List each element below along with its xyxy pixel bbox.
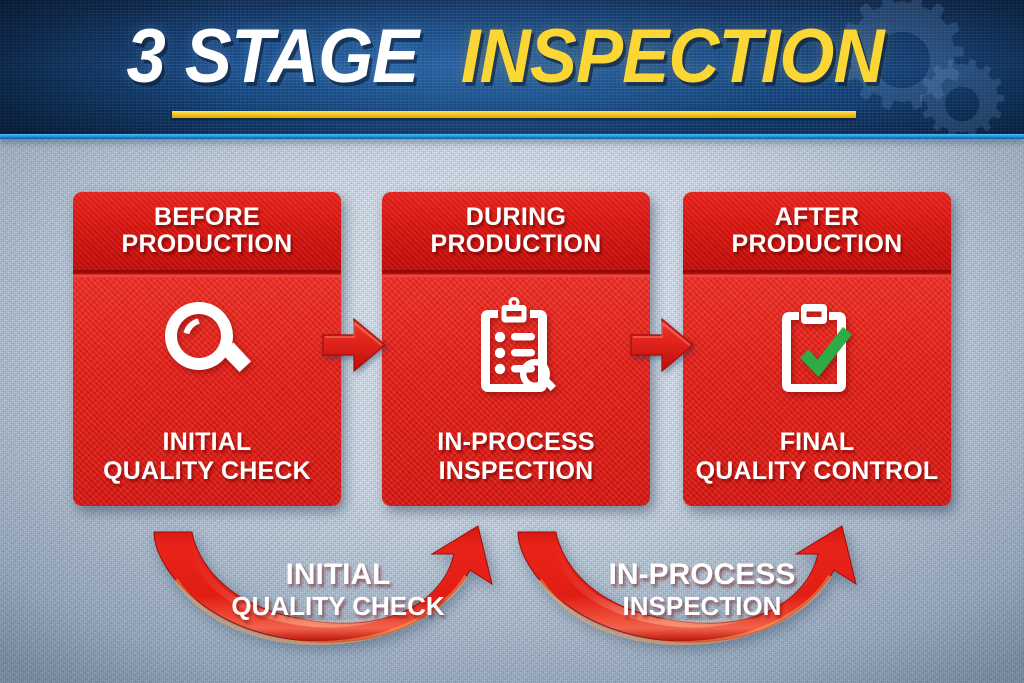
title-word-stage: STAGE (185, 17, 419, 97)
stage-card-header-label: AFTER PRODUCTION (723, 204, 910, 258)
card-divider (382, 270, 650, 278)
stage-card-header-label: BEFORE PRODUCTION (113, 204, 300, 258)
stage-caption-line2: QUALITY CONTROL (696, 457, 939, 485)
stage-card-body: FINAL QUALITY CONTROL (683, 278, 951, 506)
stage-card-before-production[interactable]: BEFORE PRODUCTION INITIAL QUALITY CHECK (73, 192, 341, 506)
stage-caption-line2: INSPECTION (439, 457, 594, 485)
header-bottom-rule (0, 134, 1024, 139)
stage-card-during-production[interactable]: DURING PRODUCTION (382, 192, 650, 506)
title-word-inspection: INSPECTION (461, 17, 884, 97)
clipboard-checklist-magnifier-icon (468, 296, 564, 396)
stage-card-caption: IN-PROCESS INSPECTION (382, 428, 650, 486)
stage-card-caption: INITIAL QUALITY CHECK (73, 428, 341, 486)
page-title: 3STAGEINSPECTION (0, 17, 1024, 97)
stage-card-body: INITIAL QUALITY CHECK (73, 278, 341, 506)
stage-card-header-label: DURING PRODUCTION (422, 204, 609, 258)
ribbon-arrow-initial-quality-check (148, 524, 528, 656)
stage-card-after-production[interactable]: AFTER PRODUCTION FINAL QUALITY CONTROL (683, 192, 951, 506)
card-divider (73, 270, 341, 278)
stage-card-header-line2: PRODUCTION (731, 230, 902, 258)
stage-card-header-line1: AFTER (775, 203, 860, 231)
stage-card-header-line2: PRODUCTION (430, 230, 601, 258)
stage-card-header: DURING PRODUCTION (382, 192, 650, 270)
stage-caption-line1: IN-PROCESS (437, 428, 595, 456)
stage-caption-line1: INITIAL (163, 428, 252, 456)
stage-caption-line1: FINAL (780, 428, 855, 456)
stage-card-header-line2: PRODUCTION (121, 230, 292, 258)
arrow-right-icon-2 (629, 316, 695, 374)
card-divider (683, 270, 951, 278)
stage-card-header-line1: BEFORE (154, 203, 260, 231)
title-underline (172, 111, 856, 118)
stage-icon-slot (73, 296, 341, 392)
clipboard-green-check-icon (767, 296, 867, 396)
stage-card-header: BEFORE PRODUCTION (73, 192, 341, 270)
stage-icon-slot (683, 296, 951, 396)
arrow-right-icon-1 (321, 316, 387, 374)
ribbon-arrow-in-process-inspection (512, 524, 892, 656)
stage-card-caption: FINAL QUALITY CONTROL (683, 428, 951, 486)
stage-caption-line2: QUALITY CHECK (103, 457, 311, 485)
stage-card-header-line1: DURING (466, 203, 566, 231)
stage-card-body: IN-PROCESS INSPECTION (382, 278, 650, 506)
title-number: 3 (126, 17, 164, 97)
infographic-canvas: 3STAGEINSPECTION BEFORE PRODUCTION (0, 0, 1024, 683)
header-banner: 3STAGEINSPECTION (0, 0, 1024, 134)
stage-icon-slot (382, 296, 650, 396)
magnifier-icon (159, 296, 255, 392)
stage-card-header: AFTER PRODUCTION (683, 192, 951, 270)
